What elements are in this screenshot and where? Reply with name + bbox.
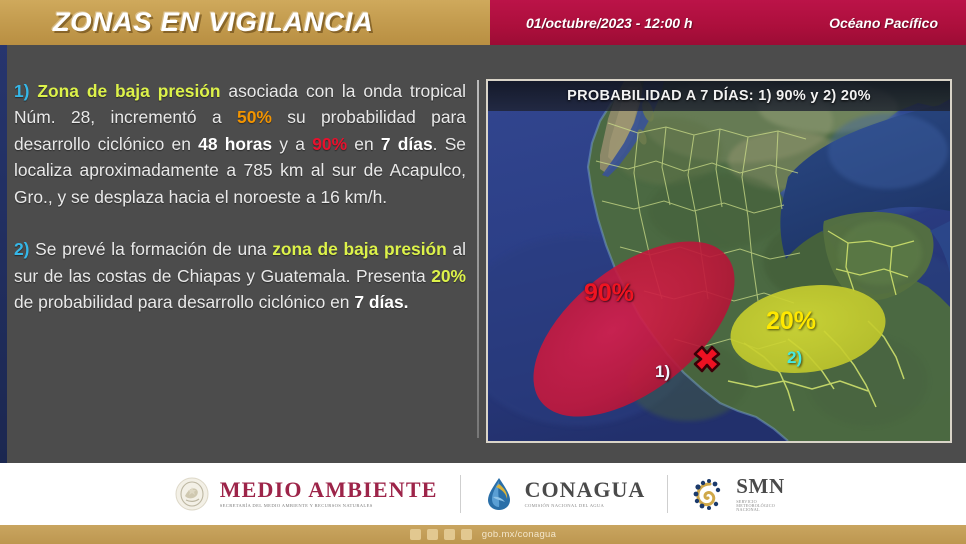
banner-zone-2-value: 20% bbox=[841, 88, 871, 104]
map-graphic bbox=[488, 81, 950, 441]
banner-zone-2-num: 2) bbox=[823, 88, 837, 104]
page-title: ZONAS EN VIGILANCIA bbox=[53, 7, 374, 38]
conagua-name: CONAGUA bbox=[525, 479, 646, 501]
banner-zone-1-value: 90% bbox=[776, 88, 806, 104]
instagram-icon[interactable] bbox=[427, 529, 438, 540]
column-divider bbox=[477, 80, 479, 438]
banner-text: PROBABILIDAD A 7 DÍAS: 1) 90% y 2) 20% bbox=[567, 88, 871, 104]
item-1-prob-7d: 90% bbox=[312, 134, 347, 154]
bulletin-item-2: 2) Se prevé la formación de una zona de … bbox=[14, 236, 466, 315]
smn-name: SMN bbox=[736, 476, 792, 497]
slide-root: ZONAS EN VIGILANCIA 01/octubre/2023 - 12… bbox=[0, 0, 966, 544]
youtube-icon[interactable] bbox=[461, 529, 472, 540]
facebook-icon[interactable] bbox=[410, 529, 421, 540]
item-2-window-7d: 7 días. bbox=[354, 292, 408, 312]
logo-medio-ambiente: MEDIO AMBIENTE SECRETARÍA DEL MEDIO AMBI… bbox=[152, 476, 460, 512]
item-1-text-d: en bbox=[347, 134, 381, 154]
item-2-text-a: Se prevé la formación de una bbox=[29, 239, 272, 259]
header-crimson-band: 01/octubre/2023 - 12:00 h Océano Pacífic… bbox=[490, 0, 966, 45]
map-panel[interactable]: PROBABILIDAD A 7 DÍAS: 1) 90% y 2) 20% 9… bbox=[486, 79, 952, 443]
twitter-icon[interactable] bbox=[444, 529, 455, 540]
item-2-highlight-zone: zona de baja presión bbox=[272, 239, 447, 259]
item-1-prob-48h: 50% bbox=[237, 107, 272, 127]
medio-ambiente-name: MEDIO AMBIENTE bbox=[220, 479, 438, 501]
map-canvas: PROBABILIDAD A 7 DÍAS: 1) 90% y 2) 20% 9… bbox=[488, 81, 950, 441]
footer-social-bar: gob.mx/conagua bbox=[0, 525, 966, 544]
smn-subtitle: SERVICIO METEOROLÓGICO NACIONAL bbox=[736, 500, 792, 513]
header-bar: ZONAS EN VIGILANCIA 01/octubre/2023 - 12… bbox=[0, 0, 966, 45]
conagua-text: CONAGUA COMISIÓN NACIONAL DEL AGUA bbox=[525, 479, 646, 509]
footer-url[interactable]: gob.mx/conagua bbox=[482, 529, 556, 540]
medio-ambiente-subtitle: SECRETARÍA DEL MEDIO AMBIENTE Y RECURSOS… bbox=[220, 504, 438, 509]
bulletin-text-column: 1) Zona de baja presión asociada con la … bbox=[14, 78, 472, 316]
item-1-window-48h: 48 horas bbox=[198, 134, 272, 154]
conagua-subtitle: COMISIÓN NACIONAL DEL AGUA bbox=[525, 504, 646, 509]
banner-zone-1-num: 1) bbox=[758, 88, 772, 104]
item-1-number: 1) bbox=[14, 81, 29, 101]
banner-prefix: PROBABILIDAD A 7 DÍAS: bbox=[567, 88, 758, 104]
item-2-text-c: de probabilidad para desarrollo ciclónic… bbox=[14, 292, 354, 312]
item-2-number: 2) bbox=[14, 239, 29, 259]
item-1-highlight-zone: Zona de baja presión bbox=[37, 81, 220, 101]
map-probability-banner: PROBABILIDAD A 7 DÍAS: 1) 90% y 2) 20% bbox=[488, 81, 950, 111]
water-drop-icon bbox=[483, 475, 515, 513]
item-1-text-c: y a bbox=[272, 134, 312, 154]
logo-conagua: CONAGUA COMISIÓN NACIONAL DEL AGUA bbox=[461, 475, 668, 513]
header-datetime: 01/octubre/2023 - 12:00 h bbox=[526, 15, 693, 31]
banner-conjunction: y bbox=[806, 88, 823, 104]
logo-smn: SMN SERVICIO METEOROLÓGICO NACIONAL bbox=[668, 476, 814, 513]
item-1-window-7d: 7 días bbox=[381, 134, 433, 154]
footer-logo-bar: MEDIO AMBIENTE SECRETARÍA DEL MEDIO AMBI… bbox=[0, 463, 966, 525]
left-accent-stripe bbox=[0, 45, 7, 463]
smn-spiral-icon bbox=[690, 476, 726, 512]
mexico-eagle-seal-icon bbox=[174, 476, 210, 512]
header-basin-label: Océano Pacífico bbox=[829, 15, 944, 31]
medio-ambiente-text: MEDIO AMBIENTE SECRETARÍA DEL MEDIO AMBI… bbox=[220, 479, 438, 509]
header-gold-band: ZONAS EN VIGILANCIA bbox=[0, 0, 490, 45]
item-2-prob-7d: 20% bbox=[431, 266, 466, 286]
smn-text: SMN SERVICIO METEOROLÓGICO NACIONAL bbox=[736, 476, 792, 513]
bulletin-item-1: 1) Zona de baja presión asociada con la … bbox=[14, 78, 466, 210]
